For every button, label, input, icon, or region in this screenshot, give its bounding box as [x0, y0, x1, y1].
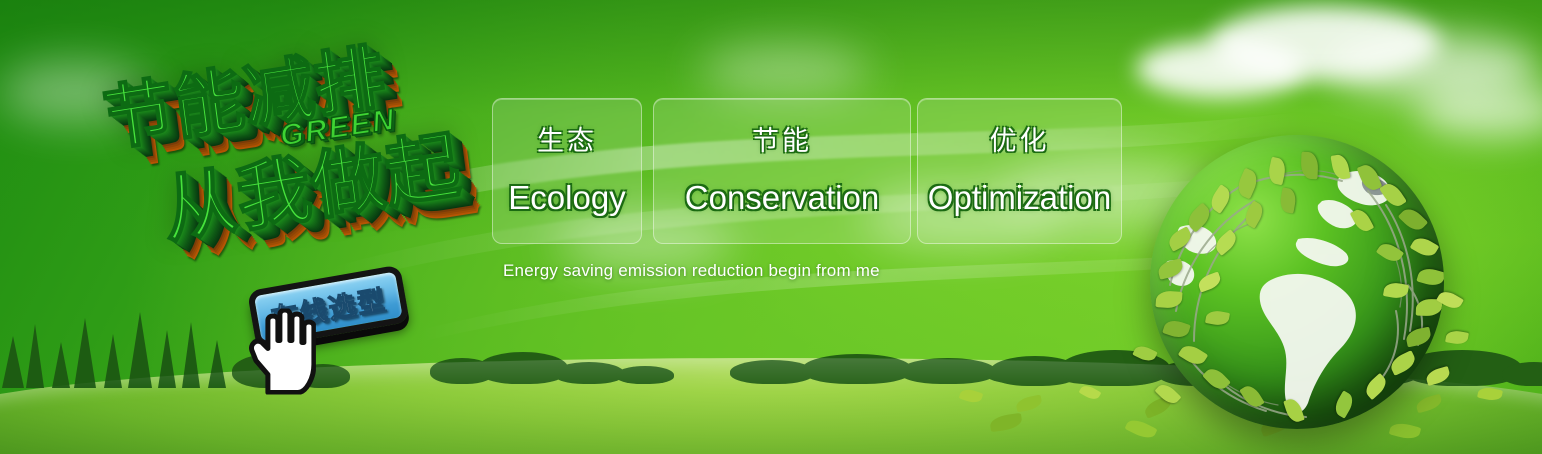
feature-card-ecology-cn: 生态 [537, 128, 597, 155]
banner-tagline: Energy saving emission reduction begin f… [503, 261, 880, 281]
feature-card-optimization-cn: 优化 [990, 128, 1050, 155]
feature-card-conservation-cn: 节能 [752, 128, 812, 155]
eco-promo-banner: 节能减排 GREEN 从我做起 在线选型 生态 Ecology 节能 Conse… [0, 0, 1542, 454]
feature-card-optimization[interactable]: 优化 Optimization [917, 98, 1122, 244]
feature-card-ecology[interactable]: 生态 Ecology [492, 98, 642, 244]
feature-card-group: 生态 Ecology 节能 Conservation 优化 Optimizati… [0, 0, 1542, 454]
feature-card-ecology-en: Ecology [508, 181, 625, 214]
feature-card-optimization-en: Optimization [928, 181, 1111, 214]
feature-card-conservation-en: Conservation [685, 181, 879, 214]
feature-card-conservation[interactable]: 节能 Conservation [653, 98, 911, 244]
